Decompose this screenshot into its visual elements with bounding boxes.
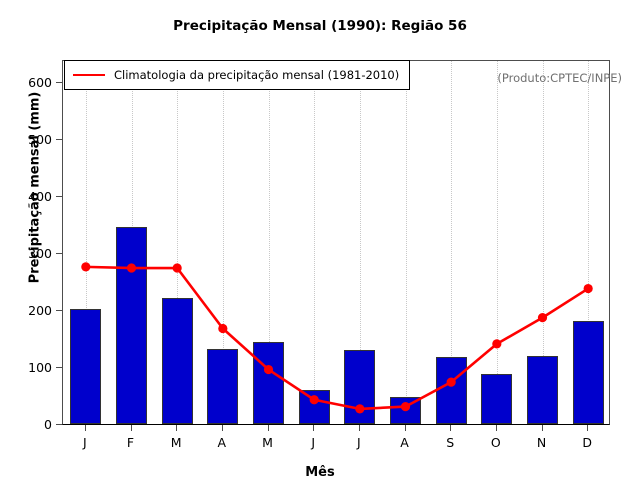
- y-tick-mark-6: [56, 82, 62, 83]
- x-tick-mark-5: [313, 425, 314, 431]
- y-tick-mark-1: [56, 367, 62, 368]
- y-tick-label-4: 400: [0, 189, 52, 204]
- x-tick-mark-9: [496, 425, 497, 431]
- y-tick-mark-2: [56, 310, 62, 311]
- x-tick-label-8: S: [430, 435, 470, 450]
- x-tick-label-7: A: [385, 435, 425, 450]
- climatology-point-10: [538, 313, 547, 322]
- y-tick-mark-4: [56, 196, 62, 197]
- climatology-point-8: [447, 377, 456, 386]
- x-tick-mark-4: [268, 425, 269, 431]
- x-tick-mark-3: [222, 425, 223, 431]
- climatology-markers: [81, 262, 593, 413]
- y-tick-label-2: 200: [0, 303, 52, 318]
- climatology-point-11: [584, 284, 593, 293]
- legend-swatch-climatology: [73, 74, 105, 76]
- x-tick-mark-11: [587, 425, 588, 431]
- producer-note: (Produto:CPTEC/INPE): [497, 71, 622, 85]
- x-tick-mark-2: [176, 425, 177, 431]
- y-tick-label-5: 500: [0, 132, 52, 147]
- y-axis-label: Precipitação mensal (mm): [28, 58, 43, 318]
- x-tick-label-10: N: [522, 435, 562, 450]
- climatology-polyline: [86, 267, 588, 409]
- y-tick-label-0: 0: [0, 417, 52, 432]
- x-tick-label-9: O: [476, 435, 516, 450]
- x-tick-mark-6: [359, 425, 360, 431]
- x-tick-label-0: J: [65, 435, 105, 450]
- x-tick-mark-7: [405, 425, 406, 431]
- x-tick-label-5: J: [293, 435, 333, 450]
- climatology-point-7: [401, 402, 410, 411]
- climatology-point-9: [492, 339, 501, 348]
- legend-label-climatology: Climatologia da precipitação mensal (198…: [114, 68, 399, 82]
- page-title: Precipitação Mensal (1990): Região 56: [0, 18, 640, 34]
- x-tick-mark-8: [450, 425, 451, 431]
- x-axis-label: Mês: [0, 465, 640, 480]
- climatology-line-series: [63, 61, 611, 426]
- climatology-point-5: [310, 395, 319, 404]
- x-tick-mark-0: [85, 425, 86, 431]
- chart-figure: Precipitação Mensal (1990): Região 56 Pr…: [0, 0, 640, 500]
- x-tick-label-3: A: [202, 435, 242, 450]
- plot-area: [62, 60, 610, 425]
- y-tick-mark-3: [56, 253, 62, 254]
- x-tick-label-6: J: [339, 435, 379, 450]
- climatology-point-0: [81, 262, 90, 271]
- climatology-point-3: [218, 324, 227, 333]
- x-tick-label-2: M: [156, 435, 196, 450]
- x-tick-label-4: M: [248, 435, 288, 450]
- y-tick-label-1: 100: [0, 360, 52, 375]
- x-tick-mark-1: [131, 425, 132, 431]
- x-tick-label-1: F: [111, 435, 151, 450]
- climatology-point-6: [355, 404, 364, 413]
- x-tick-label-11: D: [567, 435, 607, 450]
- y-tick-label-6: 600: [0, 75, 52, 90]
- climatology-point-1: [127, 263, 136, 272]
- climatology-point-4: [264, 365, 273, 374]
- legend: Climatologia da precipitação mensal (198…: [64, 60, 410, 90]
- x-tick-mark-10: [542, 425, 543, 431]
- y-tick-label-3: 300: [0, 246, 52, 261]
- y-tick-mark-5: [56, 139, 62, 140]
- climatology-point-2: [173, 263, 182, 272]
- y-tick-mark-0: [56, 424, 62, 425]
